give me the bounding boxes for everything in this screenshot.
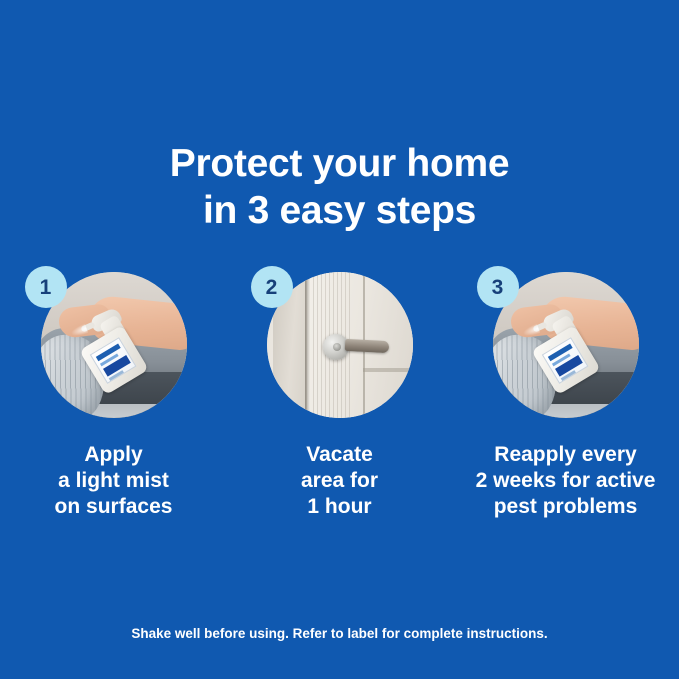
step-1-caption-line-2: a light mist bbox=[1, 468, 227, 494]
step-caption-2: Vacate area for 1 hour bbox=[227, 442, 453, 520]
step-caption-1: Apply a light mist on surfaces bbox=[1, 442, 227, 520]
door-ledge-line bbox=[363, 368, 413, 372]
step-item-1: 1 bbox=[1, 272, 227, 520]
step-number-badge-1: 1 bbox=[25, 266, 67, 308]
step-caption-3: Reapply every 2 weeks for active pest pr… bbox=[453, 442, 679, 520]
step-number-badge-2: 2 bbox=[251, 266, 293, 308]
bottle-label bbox=[89, 337, 136, 384]
step-1-caption-line-1: Apply bbox=[1, 442, 227, 468]
headline-line-2: in 3 easy steps bbox=[0, 187, 679, 234]
step-3-caption-line-1: Reapply every bbox=[453, 442, 679, 468]
step-2-caption-line-1: Vacate bbox=[227, 442, 453, 468]
step-1-caption-line-3: on surfaces bbox=[1, 494, 227, 520]
footer-disclaimer: Shake well before using. Refer to label … bbox=[0, 626, 679, 641]
step-3-photo-wrap: 3 bbox=[493, 272, 639, 418]
bottle-label bbox=[541, 337, 588, 384]
step-3-caption-line-3: pest problems bbox=[453, 494, 679, 520]
step-item-3: 3 bbox=[453, 272, 679, 520]
step-2-photo-wrap: 2 bbox=[267, 272, 413, 418]
page-title: Protect your home in 3 easy steps bbox=[0, 140, 679, 234]
steps-row: 1 bbox=[0, 272, 679, 520]
step-item-2: 2 Vacate area bbox=[227, 272, 453, 520]
door-keyhole bbox=[333, 343, 341, 351]
door-lever-handle bbox=[344, 339, 389, 353]
promo-poster: Protect your home in 3 easy steps 1 bbox=[0, 0, 679, 679]
step-number-badge-3: 3 bbox=[477, 266, 519, 308]
step-3-caption-line-2: 2 weeks for active bbox=[453, 468, 679, 494]
step-1-photo-wrap: 1 bbox=[41, 272, 187, 418]
step-2-caption-line-2: area for bbox=[227, 468, 453, 494]
headline-line-1: Protect your home bbox=[0, 140, 679, 187]
step-2-caption-line-3: 1 hour bbox=[227, 494, 453, 520]
